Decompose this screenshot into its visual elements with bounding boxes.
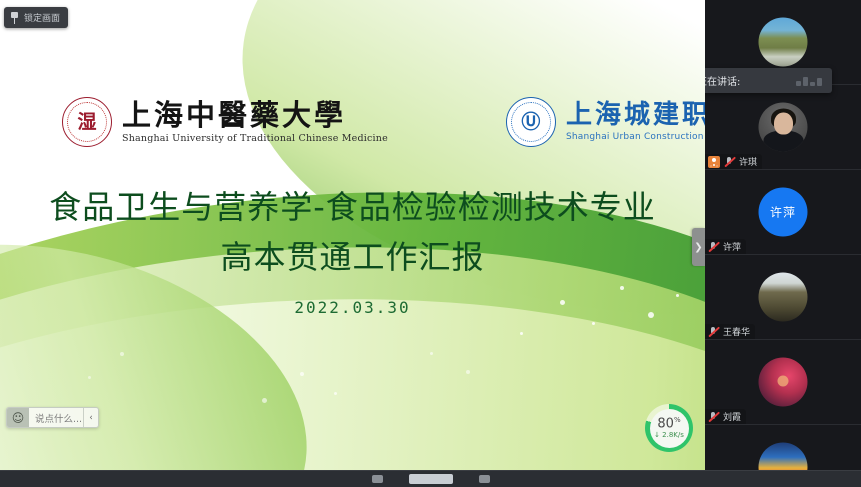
shutcm-en-name: Shanghai University of Traditional Chine… [122,133,388,144]
pin-icon [10,12,19,24]
shared-screen-stage[interactable]: 湿 上海中醫藥大學 Shanghai University of Traditi… [0,0,705,470]
sucvc-cn-name: 上海城建职业学院 [566,102,705,129]
network-percent-number: 80 [657,416,674,431]
slide-title-line-1: 食品卫生与营养学-食品检验检测技术专业 [49,188,656,226]
avatar [759,358,808,407]
tile-label: 刘霞 [705,409,746,424]
slide-title: 食品卫生与营养学-食品检验检测技术专业 高本贯通工作汇报 [0,183,705,282]
chevron-right-icon: ❯ [694,242,702,253]
emoji-smiley-icon[interactable]: ☺ [7,408,29,427]
toolbar-primary-button[interactable] [409,474,453,484]
slide-date: 2022.03.30 [0,298,705,317]
logo-sucvc: Ⓤ 上海城建职业学院 Shanghai Urban Construction V… [506,97,705,147]
participant-name: 王春华 [723,325,750,338]
network-quality-badge: 80% ↓ 2.8K/s [645,404,693,452]
shutcm-crest-mark: 湿 [77,113,96,132]
chat-input-placeholder[interactable]: 说点什么... [29,411,83,425]
participant-tile[interactable]: 刘霞 [705,340,861,425]
participant-name: 许琪 [739,155,757,168]
tile-label: 王春华 [705,324,755,339]
network-percent-unit: % [674,416,681,424]
avatar [759,18,808,67]
network-percent-value: 80% [657,417,680,430]
chat-collapse-icon[interactable]: ‹ [83,408,98,427]
meeting-toolbar[interactable] [0,470,861,487]
participant-filmstrip[interactable]: 刘晓丹的屏幕共享 许琪 许萍 许萍 [705,0,861,487]
avatar [759,103,808,152]
audio-waveform-icon [796,75,822,86]
toolbar-icon-mic[interactable] [372,475,383,483]
mic-muted-icon [708,241,719,253]
shutcm-crest-icon: 湿 [62,97,112,147]
tile-label: 许萍 [705,239,746,254]
meeting-window: 湿 上海中醫藥大學 Shanghai University of Traditi… [0,0,861,487]
tile-label: 许琪 [705,154,762,169]
sucvc-en-name: Shanghai Urban Construction Vocational C… [566,132,705,142]
chat-input-bar[interactable]: ☺ 说点什么... ‹ [6,407,99,428]
mic-muted-icon [708,326,719,338]
sucvc-crest-mark: Ⓤ [521,113,540,132]
presentation-slide: 湿 上海中醫藥大學 Shanghai University of Traditi… [0,0,705,470]
logo-shutcm: 湿 上海中醫藥大學 Shanghai University of Traditi… [62,97,388,147]
sucvc-crest-icon: Ⓤ [506,97,556,147]
slide-title-line-2: 高本贯通工作汇报 [0,233,705,283]
speaking-tooltip-label: 正在讲话: [705,73,740,88]
avatar-initials: 许萍 [759,188,808,237]
speaking-tooltip: 正在讲话: [705,68,832,93]
mic-muted-icon [724,156,735,168]
participant-name: 刘霞 [723,410,741,423]
filmstrip-collapse-handle[interactable]: ❯ [692,228,705,266]
shutcm-cn-name: 上海中醫藥大學 [122,100,388,130]
lock-screen-label: 锁定画面 [24,11,60,24]
lock-screen-button[interactable]: 锁定画面 [4,7,68,28]
mic-muted-icon [708,411,719,423]
participant-name: 许萍 [723,240,741,253]
participant-tile[interactable]: 王春华 [705,255,861,340]
network-speed-value: ↓ 2.8K/s [654,432,684,439]
participant-tile[interactable]: 许琪 [705,85,861,170]
avatar [759,273,808,322]
host-icon [708,156,720,168]
participant-tile[interactable]: 许萍 许萍 [705,170,861,255]
slide-logo-row: 湿 上海中醫藥大學 Shanghai University of Traditi… [0,88,705,156]
toolbar-icon-more[interactable] [479,475,490,483]
